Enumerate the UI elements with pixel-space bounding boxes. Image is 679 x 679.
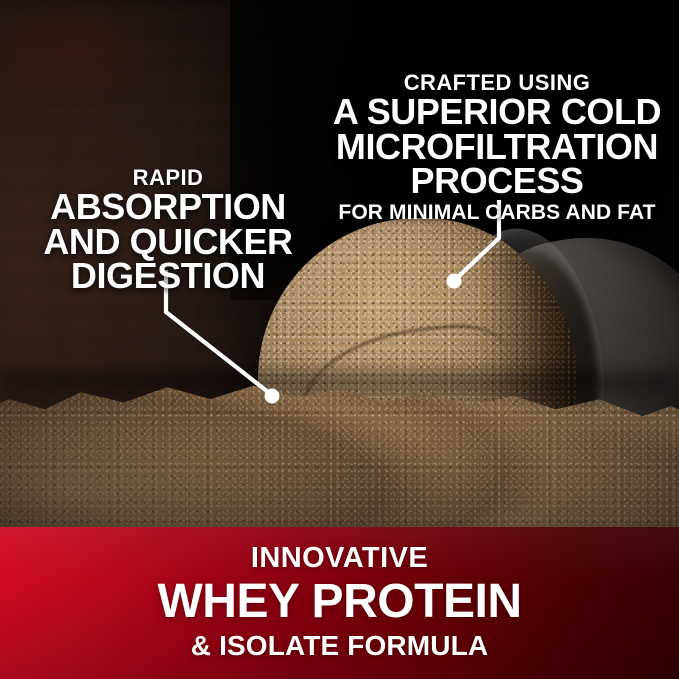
infographic-root: RAPID ABSORPTION AND QUICKER DIGESTION C… <box>0 0 679 679</box>
banner-top-line: INNOVATIVE <box>0 544 679 573</box>
callout-left-text: RAPID ABSORPTION AND QUICKER DIGESTION <box>18 166 318 294</box>
bottom-red-banner: INNOVATIVE WHEY PROTEIN & ISOLATE FORMUL… <box>0 527 679 679</box>
banner-sub-line: & ISOLATE FORMULA <box>0 632 679 660</box>
callout-left-headline-line-1: ABSORPTION <box>18 190 318 225</box>
callout-right-headline-line-1: A SUPERIOR COLD <box>332 95 662 130</box>
callout-left-headline-line-2: AND QUICKER <box>18 225 318 260</box>
callout-left-headline: ABSORPTION AND QUICKER DIGESTION <box>18 190 318 294</box>
callout-right-headline: A SUPERIOR COLD MICROFILTRATION PROCESS <box>332 95 662 199</box>
callout-right-headline-line-3: PROCESS <box>332 164 662 199</box>
callout-right-subtext: FOR MINIMAL CARBS AND FAT <box>332 202 662 224</box>
callout-right-headline-line-2: MICROFILTRATION <box>332 130 662 165</box>
banner-main-line: WHEY PROTEIN <box>0 577 679 627</box>
callout-left-headline-line-3: DIGESTION <box>18 259 318 294</box>
product-photo: RAPID ABSORPTION AND QUICKER DIGESTION C… <box>0 0 679 527</box>
callout-right-text: CRAFTED USING A SUPERIOR COLD MICROFILTR… <box>332 71 662 224</box>
banner-content: INNOVATIVE WHEY PROTEIN & ISOLATE FORMUL… <box>0 527 679 660</box>
